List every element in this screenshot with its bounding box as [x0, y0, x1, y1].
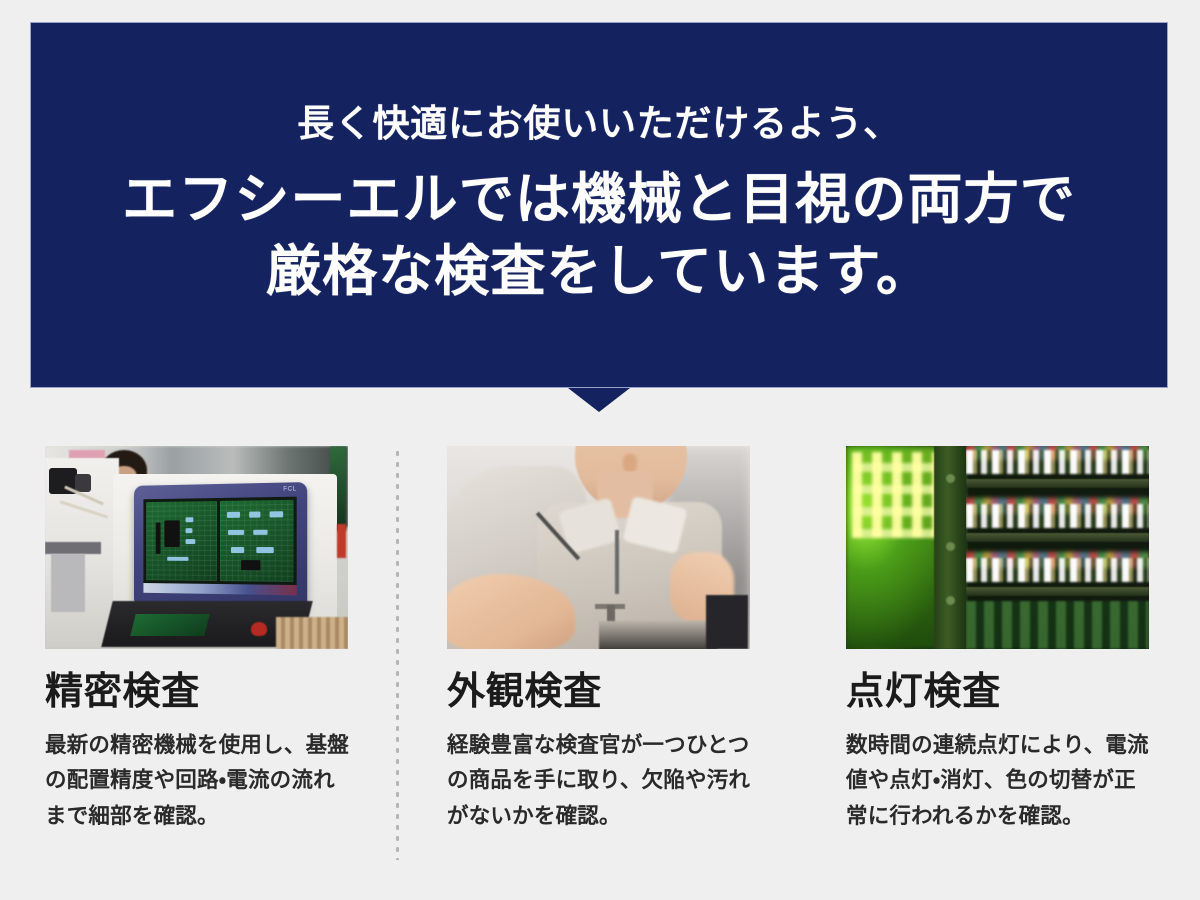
feature-column-precision: FCL	[0, 446, 400, 866]
hero-line-3: 厳格な検査をしています。	[266, 235, 932, 308]
hero-line-2: エフシーエルでは機械と目視の両方で	[122, 163, 1076, 236]
hero-box: 長く快適にお使いいただけるよう、 エフシーエルでは機械と目視の両方で 厳格な検査…	[30, 22, 1168, 388]
feature-column-lighting: 点灯検査 数時間の連続点灯により、電流値や点灯・消灯、色の切替が正常に行われるか…	[800, 446, 1200, 866]
column-divider-1	[396, 448, 399, 860]
hero-line-1: 長く快適にお使いいただけるよう、	[297, 102, 901, 146]
feature-title-lighting: 点灯検査	[846, 671, 1180, 714]
hero-pointer-arrow-icon	[568, 388, 630, 412]
visual-inspection-photo	[447, 446, 750, 649]
feature-title-precision: 精密検査	[45, 671, 380, 714]
feature-body-lighting: 数時間の連続点灯により、電流値や点灯・消灯、色の切替が正常に行われるかを確認。	[846, 728, 1151, 835]
precision-inspection-photo: FCL	[45, 446, 348, 649]
feature-title-visual: 外観検査	[447, 671, 780, 714]
hero-banner: 長く快適にお使いいただけるよう、 エフシーエルでは機械と目視の両方で 厳格な検査…	[30, 22, 1168, 388]
inspection-features: FCL	[0, 446, 1200, 866]
lighting-inspection-photo	[846, 446, 1149, 649]
hero-text-group: 長く快適にお使いいただけるよう、 エフシーエルでは機械と目視の両方で 厳格な検査…	[31, 23, 1167, 387]
feature-column-visual: 外観検査 経験豊富な検査官が一つひとつの商品を手に取り、欠陥や汚れがないかを確認…	[400, 446, 800, 866]
feature-body-precision: 最新の精密機械を使用し、基盤の配置精度や回路・電流の流れまで細部を確認。	[45, 728, 350, 835]
feature-body-visual: 経験豊富な検査官が一つひとつの商品を手に取り、欠陥や汚れがないかを確認。	[447, 728, 752, 835]
